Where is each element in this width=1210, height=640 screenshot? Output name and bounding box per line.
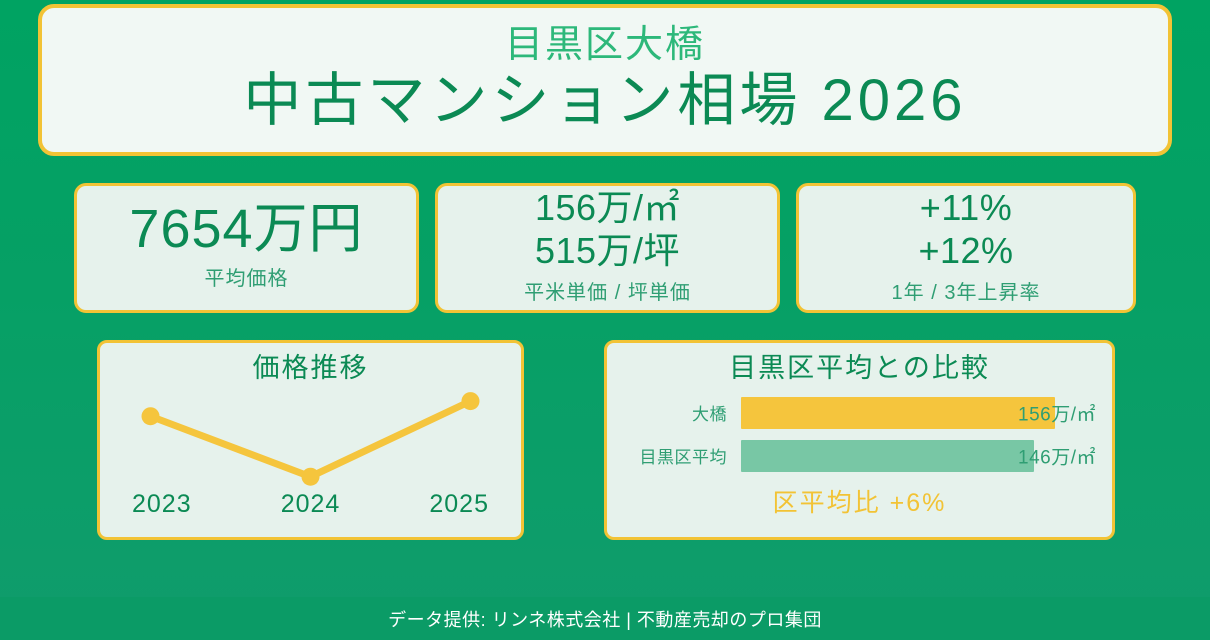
bar-track-ohashi: 156万/㎡ bbox=[741, 397, 1098, 429]
page-title: 中古マンション相場 2026 bbox=[243, 68, 966, 135]
ward-comparison-title: 目黒区平均との比較 bbox=[607, 354, 1112, 384]
stats-row: 7654万円 平均価格 156万/㎡ 515万/坪 平米単価 / 坪単価 +11… bbox=[74, 183, 1136, 313]
bar-label-ward-average: 目黒区平均 bbox=[627, 443, 741, 468]
trend-year-2024: 2024 bbox=[281, 490, 341, 519]
average-price-value: 7654万円 bbox=[129, 201, 363, 258]
average-price-label: 平均価格 bbox=[205, 262, 289, 291]
header-subtitle: 目黒区大橋 bbox=[505, 26, 705, 66]
trend-year-2023: 2023 bbox=[132, 490, 192, 519]
unit-price-label: 平米単価 / 坪単価 bbox=[524, 276, 691, 305]
footer-bar: データ提供: リンネ株式会社 | 不動産売却のプロ集団 bbox=[0, 597, 1210, 640]
bar-fill-ohashi bbox=[741, 397, 1055, 429]
trend-point-2023 bbox=[142, 407, 160, 425]
ward-comparison-note: 区平均比 +6% bbox=[607, 483, 1112, 519]
charts-row: 価格推移 2023 2024 2025 目黒区平均との比較 大橋 156万/㎡ bbox=[97, 340, 1115, 540]
price-trend-card: 価格推移 2023 2024 2025 bbox=[97, 340, 524, 540]
bar-fill-ward-average bbox=[741, 440, 1034, 472]
growth-rate-3y-value: +12% bbox=[918, 230, 1013, 272]
price-trend-axis: 2023 2024 2025 bbox=[100, 490, 521, 519]
bar-label-ohashi: 大橋 bbox=[627, 400, 741, 425]
bar-value-ohashi: 156万/㎡ bbox=[1018, 399, 1096, 426]
bar-value-ward-average: 146万/㎡ bbox=[1018, 442, 1096, 469]
unit-price-tsubo-value: 515万/坪 bbox=[535, 230, 680, 272]
growth-rate-1y-value: +11% bbox=[920, 187, 1012, 229]
unit-price-sqm-value: 156万/㎡ bbox=[535, 187, 680, 229]
stat-card-unit-price: 156万/㎡ 515万/坪 平米単価 / 坪単価 bbox=[435, 183, 780, 313]
comparison-bars: 大橋 156万/㎡ 目黒区平均 146万/㎡ bbox=[607, 397, 1112, 472]
footer-credit-text: データ提供: リンネ株式会社 | 不動産売却のプロ集団 bbox=[388, 606, 822, 632]
trend-data-points bbox=[142, 392, 480, 486]
bar-row-ward-average: 目黒区平均 146万/㎡ bbox=[627, 440, 1098, 472]
header-card: 目黒区大橋 中古マンション相場 2026 bbox=[38, 4, 1172, 156]
trend-year-2025: 2025 bbox=[429, 490, 489, 519]
bar-row-ohashi: 大橋 156万/㎡ bbox=[627, 397, 1098, 429]
price-trend-title: 価格推移 bbox=[100, 354, 521, 384]
price-trend-line-chart bbox=[100, 386, 521, 494]
stat-card-growth-rate: +11% +12% 1年 / 3年上昇率 bbox=[796, 183, 1136, 313]
ward-comparison-card: 目黒区平均との比較 大橋 156万/㎡ 目黒区平均 146万/㎡ 区平均比 +6… bbox=[604, 340, 1115, 540]
stat-card-average-price: 7654万円 平均価格 bbox=[74, 183, 419, 313]
growth-rate-label: 1年 / 3年上昇率 bbox=[892, 276, 1041, 305]
trend-point-2025 bbox=[461, 392, 479, 410]
trend-point-2024 bbox=[302, 467, 320, 485]
bar-track-ward-average: 146万/㎡ bbox=[741, 440, 1098, 472]
trend-line-path bbox=[151, 401, 471, 477]
price-trend-plot bbox=[100, 386, 521, 494]
